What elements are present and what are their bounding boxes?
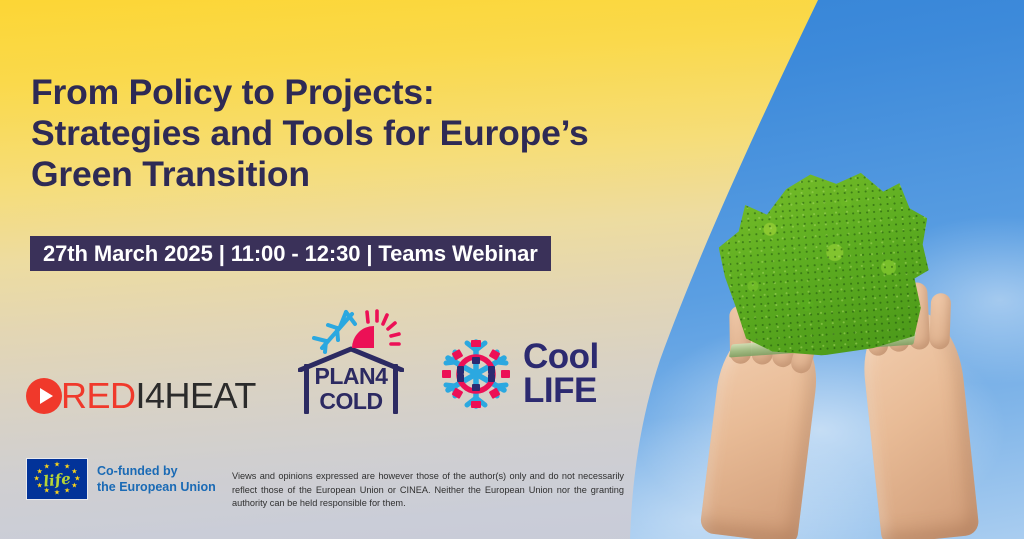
- logo-red-i4heat-primary: RED: [61, 375, 136, 417]
- eu-cofunding-block: ★ ★ ★ ★ ★ ★ ★ ★ ★ ★ ★ ★ life Co-funded b…: [26, 458, 216, 500]
- coollife-wordmark: Cool LIFE: [523, 340, 599, 408]
- disclaimer-text: Views and opinions expressed are however…: [232, 470, 624, 511]
- page-title: From Policy to Projects: Strategies and …: [31, 72, 711, 195]
- event-details-badge: 27th March 2025 | 11:00 - 12:30 | Teams …: [30, 236, 551, 271]
- moss-texture: [714, 163, 936, 362]
- logo-red-i4heat-secondary: I4HEAT: [136, 375, 256, 417]
- plan4cold-wordmark: PLAN4 COLD: [304, 364, 398, 414]
- play-circle-icon: [26, 378, 62, 414]
- play-triangle-icon: [40, 388, 53, 404]
- plan4cold-words: PLAN4 COLD: [312, 364, 390, 414]
- logo-coollife[interactable]: Cool LIFE: [440, 338, 599, 410]
- hands-holding-moss-house-photo: [700, 150, 1024, 539]
- logo-plan4cold-secondary: COLD: [312, 389, 390, 414]
- partner-logos-row: RED I4HEAT: [0, 300, 630, 425]
- left-bar-decoration: [304, 364, 309, 414]
- eu-cofunding-line-2: the European Union: [97, 479, 216, 495]
- eu-cofunding-line-1: Co-funded by: [97, 463, 216, 479]
- webinar-promo-banner: From Policy to Projects: Strategies and …: [0, 0, 1024, 539]
- title-line-1: From Policy to Projects:: [31, 72, 711, 113]
- moss-house-shape: [714, 163, 936, 362]
- logo-coollife-primary: Cool: [523, 340, 599, 374]
- life-programme-label: life: [42, 469, 71, 490]
- eu-flag-icon: ★ ★ ★ ★ ★ ★ ★ ★ ★ ★ ★ ★ life: [26, 458, 88, 500]
- logo-coollife-secondary: LIFE: [523, 374, 599, 408]
- sun-icon: [346, 308, 402, 352]
- logo-red-i4heat[interactable]: RED I4HEAT: [26, 375, 256, 417]
- snowflake-icon: [440, 338, 512, 410]
- logo-plan4cold[interactable]: PLAN4 COLD: [298, 308, 404, 420]
- eu-cofunding-text: Co-funded by the European Union: [97, 463, 216, 495]
- logo-plan4cold-primary: PLAN4: [312, 364, 390, 389]
- title-line-3: Green Transition: [31, 154, 711, 195]
- title-line-2: Strategies and Tools for Europe’s: [31, 113, 711, 154]
- right-bar-decoration: [393, 364, 398, 414]
